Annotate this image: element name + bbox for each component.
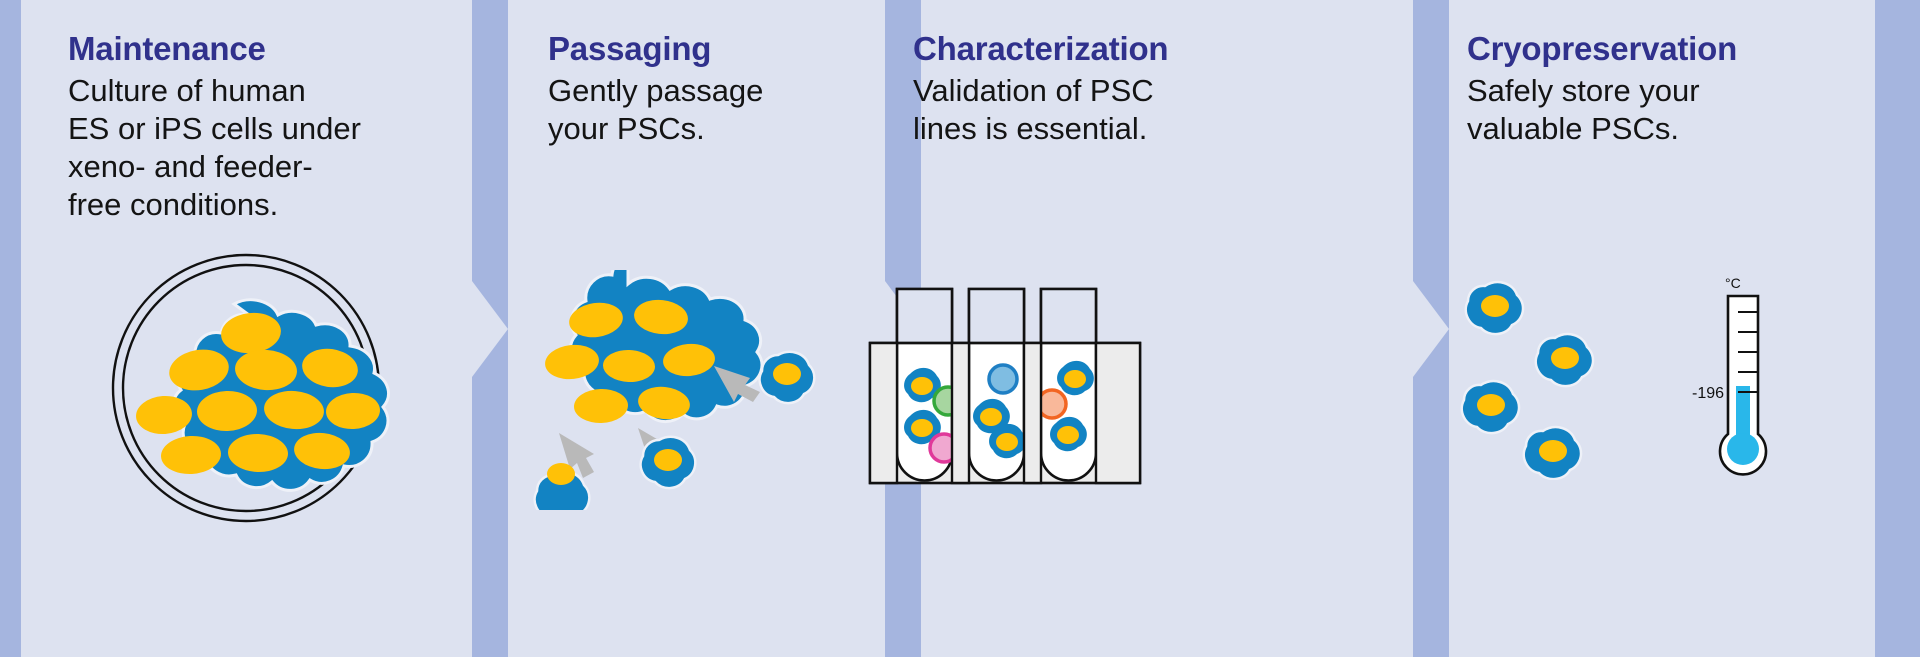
body-line: Culture of human	[68, 72, 361, 110]
blue-marker	[989, 365, 1017, 393]
panel-passaging: Passaging Gently passage your PSCs.	[508, 0, 885, 657]
parent-colony	[543, 270, 762, 424]
left-edge-band	[0, 0, 21, 657]
panel-maintenance: Maintenance Culture of human ES or iPS c…	[21, 0, 472, 657]
frozen-cell-1	[1466, 282, 1523, 334]
rack-slot-right	[1096, 343, 1140, 483]
body-line: xeno- and feeder-	[68, 148, 361, 186]
panel-title-cryopreservation: Cryopreservation	[1467, 30, 1737, 68]
stem-cell-colony	[135, 300, 389, 491]
thermometer-value-label: -196	[1692, 385, 1724, 402]
separator-chevron-3	[1413, 0, 1449, 657]
daughter-cell-3	[641, 437, 696, 488]
panel-body-maintenance: Culture of human ES or iPS cells under x…	[68, 72, 361, 224]
frozen-cell-3	[1462, 381, 1519, 433]
rack-slot-2	[952, 343, 969, 483]
rack-slot-left	[870, 343, 897, 483]
right-edge-band	[1875, 0, 1920, 657]
body-line: ES or iPS cells under	[68, 110, 361, 148]
body-line: Validation of PSC	[913, 72, 1154, 110]
panel-cryopreservation: Cryopreservation Safely store your valua…	[1449, 0, 1875, 657]
frozen-cell-4	[1524, 427, 1581, 479]
frozen-cells-group	[1459, 270, 1679, 485]
panel-title-characterization: Characterization	[913, 30, 1168, 68]
body-line: valuable PSCs.	[1467, 110, 1700, 148]
panel-body-characterization: Validation of PSC lines is essential.	[913, 72, 1154, 148]
infographic-canvas: Maintenance Culture of human ES or iPS c…	[0, 0, 1920, 657]
panel-body-cryopreservation: Safely store your valuable PSCs.	[1467, 72, 1700, 148]
thermometer-illustration: °C -196	[1692, 276, 1812, 486]
panel-characterization: Characterization Validation of PSC lines…	[921, 0, 1413, 657]
thermometer-bulb	[1727, 433, 1759, 465]
body-line: free conditions.	[68, 186, 361, 224]
test-tube-3	[1038, 289, 1096, 481]
frozen-cell-2	[1536, 334, 1593, 386]
thermometer-unit-label: °C	[1725, 276, 1741, 291]
daughter-cell-1	[760, 352, 815, 403]
body-line: your PSCs.	[548, 110, 763, 148]
test-tube-rack-illustration	[866, 275, 1166, 495]
body-line: Safely store your	[1467, 72, 1700, 110]
panel-body-passaging: Gently passage your PSCs.	[548, 72, 763, 148]
passaging-illustration	[498, 270, 858, 515]
panel-title-maintenance: Maintenance	[68, 30, 266, 68]
body-line: lines is essential.	[913, 110, 1154, 148]
petri-dish-illustration	[91, 248, 411, 533]
body-line: Gently passage	[548, 72, 763, 110]
panel-title-passaging: Passaging	[548, 30, 711, 68]
rack-slot-3	[1024, 343, 1041, 483]
test-tube-2	[969, 289, 1026, 481]
